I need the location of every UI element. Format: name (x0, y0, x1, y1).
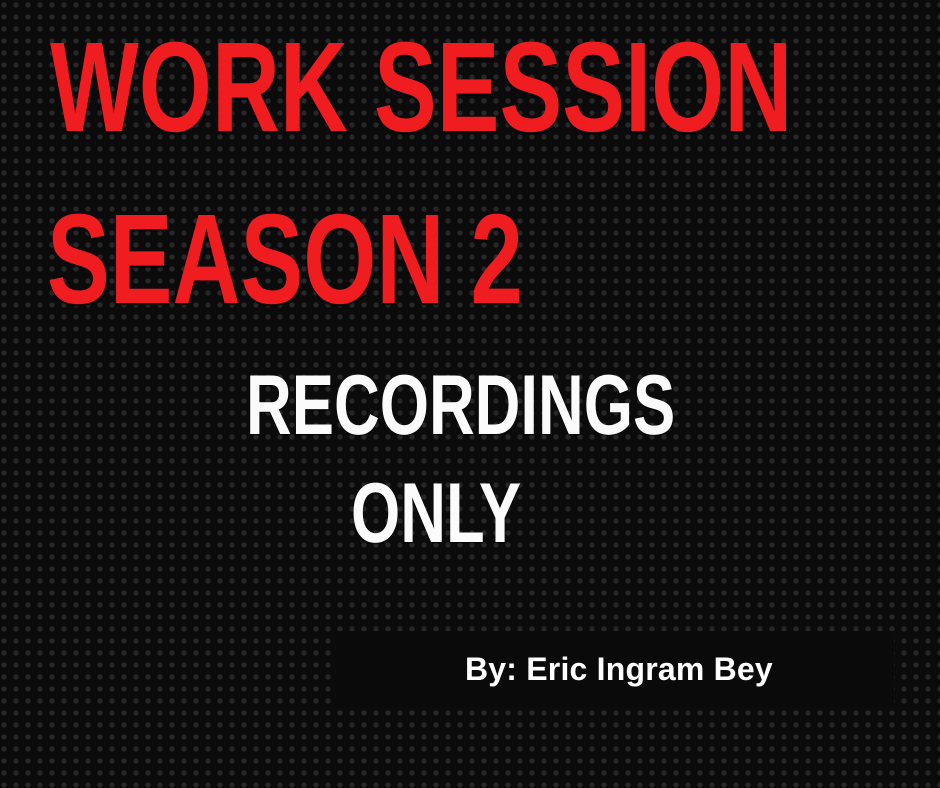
poster-canvas: WORK SESSION SEASON 2 RECORDINGS ONLY By… (0, 0, 940, 788)
title-line-season-2: SEASON 2 (47, 196, 523, 324)
byline-plate: By: Eric Ingram Bey (336, 631, 894, 707)
subtitle-line-recordings: RECORDINGS (246, 363, 675, 448)
subtitle-line-only: ONLY (351, 471, 521, 556)
poster-content: WORK SESSION SEASON 2 RECORDINGS ONLY By… (0, 0, 940, 788)
byline-author-text: By: Eric Ingram Bey (465, 650, 773, 688)
title-line-work-session: WORK SESSION (50, 24, 792, 152)
